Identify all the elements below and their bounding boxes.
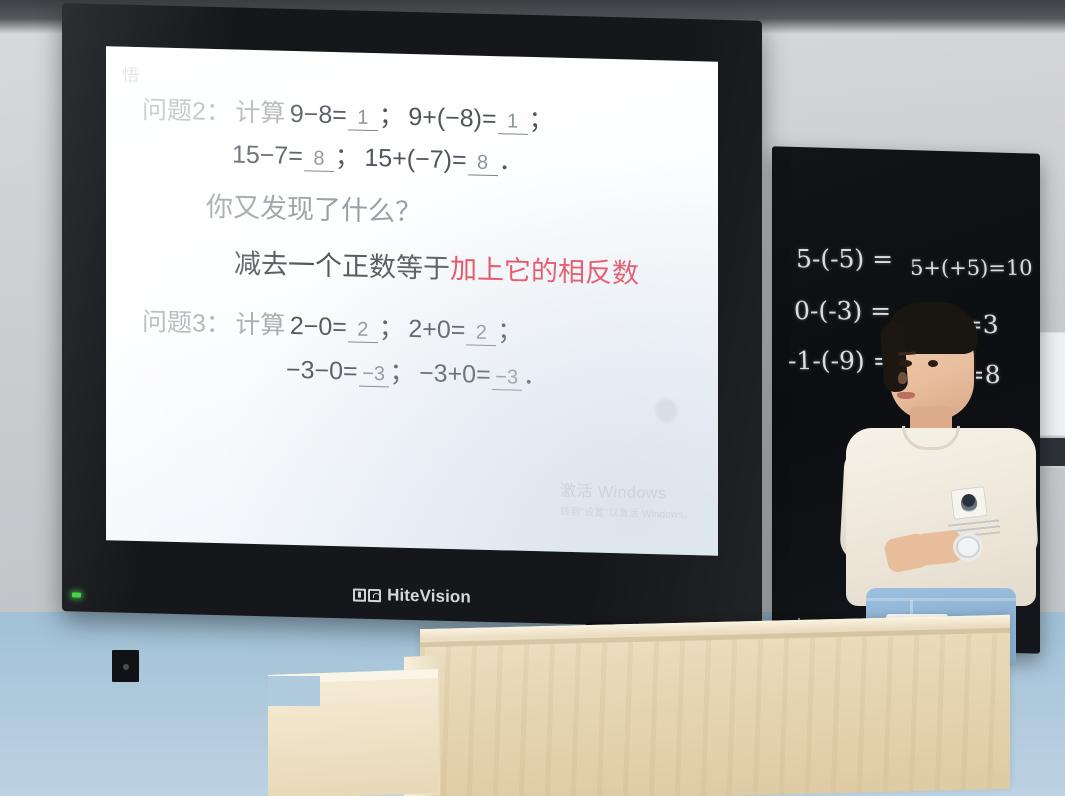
nose [898, 372, 907, 384]
watermark-line2: 转到"设置"以激活 Windows。 [560, 503, 694, 521]
question2-sep1: ； [379, 102, 404, 131]
rule-highlight-text: 加上它的相反数 [450, 254, 639, 289]
interactive-whiteboard[interactable]: 悟 问题2： 计算 9−8=1； 9+(−8)=1； 15−7=8； 15+(−… [62, 3, 762, 629]
windows-activation-watermark: 激活 Windows 转到"设置"以激活 Windows。 [560, 477, 694, 521]
question3-sep3: ； [390, 358, 415, 387]
podium-notch [268, 676, 320, 706]
question2-answer2: 1 [498, 111, 528, 135]
wrist-watch [956, 536, 980, 558]
question3-answer1: 2 [348, 319, 378, 343]
eye-left [899, 360, 912, 367]
shirt [846, 428, 1036, 606]
question2-expr4: 15+(−7)= [364, 144, 466, 175]
question3-verb: 计算 [235, 311, 285, 340]
mount-bracket-left [112, 650, 139, 682]
eye-right [928, 360, 938, 367]
question2-verb: 计算 [235, 99, 285, 128]
question3-line2: −3−0=−3； −3+0=−3． [286, 357, 548, 392]
chalk-line-1-left: 5-(-5) = [796, 244, 894, 273]
slide-rule: 减去一个正数等于加上它的相反数 [234, 241, 639, 290]
question2-answer3: 8 [304, 148, 334, 172]
question2-answer4: 8 [468, 152, 498, 176]
display-brand-label: HiteVision [387, 585, 471, 607]
question2-sep4: ． [499, 147, 524, 176]
question3-expr4: −3+0= [419, 359, 491, 389]
question3-answer3: −3 [359, 364, 389, 388]
screen-smudge [655, 398, 677, 423]
question2-expr3: 15−7= [232, 140, 303, 170]
question3-expr1: 2−0= [290, 312, 347, 341]
question3-sep4: ． [523, 362, 548, 391]
question3-label: 问题3： [142, 308, 231, 338]
slide-content: 悟 问题2： 计算 9−8=1； 9+(−8)=1； 15−7=8； 15+(−… [106, 46, 718, 555]
question2-expr1: 9−8= [290, 100, 347, 129]
projection-screen[interactable]: 悟 问题2： 计算 9−8=1； 9+(−8)=1； 15−7=8； 15+(−… [106, 46, 718, 555]
question2-answer1: 1 [348, 107, 378, 131]
slide-prompt: 你又发现了什么？ [206, 185, 422, 229]
slide-corner-mark: 悟 [122, 61, 140, 86]
chalk-line-1-right: 5+(+5)=10 [910, 256, 1033, 280]
presenter [842, 300, 1038, 660]
classroom-scene: 5-(-5) = 5+(+5)=10 0-(-3) = )=3 -1-(-9) … [0, 0, 1065, 796]
power-led-icon [72, 592, 81, 597]
watermark-line1: 激活 Windows [560, 477, 694, 504]
question2-sep2: ； [529, 106, 554, 135]
rule-plain-text: 减去一个正数等于 [234, 248, 450, 283]
question3-answer2: 2 [466, 322, 496, 346]
podium-grain [420, 633, 1010, 796]
question3-line1: 问题3： 计算 2−0=2； 2+0=2； [142, 309, 522, 347]
question3-expr2: 2+0= [408, 315, 465, 344]
question3-expr3: −3−0= [286, 356, 358, 386]
question2-sep3: ； [335, 143, 360, 172]
question3-answer4: −3 [492, 367, 522, 391]
question3-sep1: ； [379, 314, 404, 343]
mouth [897, 392, 915, 399]
question2-expr2: 9+(−8)= [408, 103, 496, 133]
question2-label: 问题2： [142, 96, 231, 126]
question2-line1: 问题2： 计算 9−8=1； 9+(−8)=1； [142, 97, 554, 135]
podium-front [420, 615, 1010, 796]
hitevision-logo-icon [353, 588, 381, 602]
shirt-print-graphic [950, 486, 987, 520]
question3-sep2: ； [497, 317, 522, 346]
question2-line2: 15−7=8； 15+(−7)=8． [232, 141, 524, 176]
